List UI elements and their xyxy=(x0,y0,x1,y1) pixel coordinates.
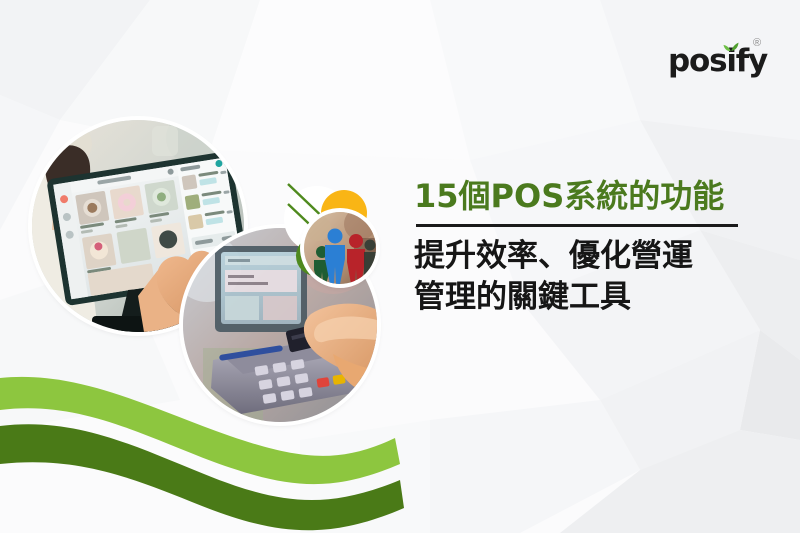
subtitle-line-1: 提升效率、優化營運 xyxy=(414,236,774,277)
banner-canvas: posify ® xyxy=(0,0,800,533)
title-divider xyxy=(416,224,738,227)
registered-mark-icon: ® xyxy=(753,38,761,49)
green-wave-decor xyxy=(0,368,800,533)
headline-block: 15個POS系統的功能 提升效率、優化營運 管理的關鍵工具 xyxy=(414,178,774,318)
logo-wordmark: posify xyxy=(668,46,767,77)
subtitle-line-2: 管理的關鍵工具 xyxy=(414,277,774,318)
customer-figures-photo-art xyxy=(304,212,376,284)
brand-logo[interactable]: posify ® xyxy=(668,38,768,80)
leaf-icon xyxy=(722,39,740,53)
page-title: 15個POS系統的功能 xyxy=(414,178,774,216)
customer-figures-photo xyxy=(304,212,376,284)
